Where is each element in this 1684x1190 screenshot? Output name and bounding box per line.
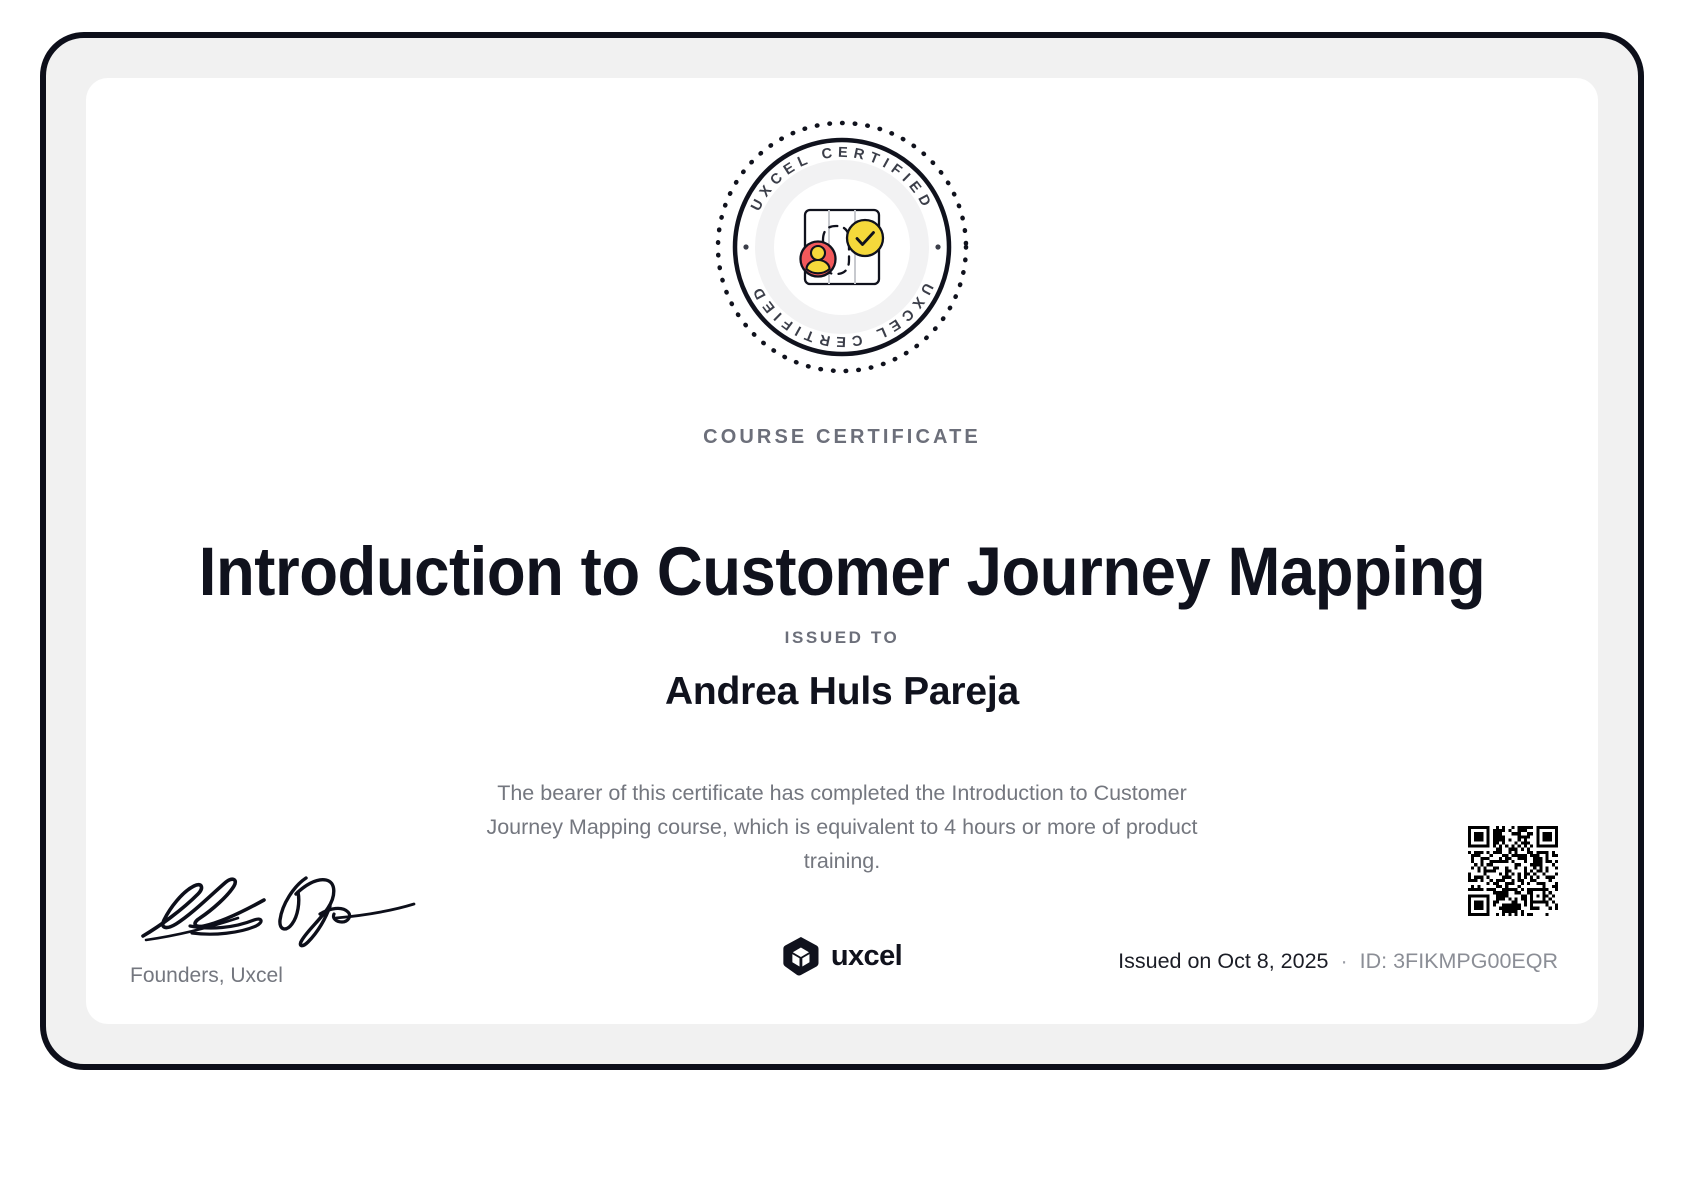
uxcel-certified-badge: UXCEL CERTIFIED UXCEL CERTIFIED: [713, 118, 971, 376]
issued-on-date: Issued on Oct 8, 2025: [1118, 949, 1328, 973]
certificate-description: The bearer of this certificate has compl…: [472, 776, 1212, 878]
certificate-frame: UXCEL CERTIFIED UXCEL CERTIFIED: [40, 32, 1644, 1070]
founders-signature-icon: [130, 870, 430, 952]
certificate-card: UXCEL CERTIFIED UXCEL CERTIFIED: [86, 78, 1598, 1024]
brand-wordmark: uxcel: [831, 942, 902, 971]
signature-block: Founders, Uxcel: [126, 870, 456, 988]
uxcel-brand-logo: uxcel: [782, 936, 902, 976]
certificate-id: ID: 3FIKMPG00EQR: [1360, 949, 1558, 973]
certificate-meta: Issued on Oct 8, 2025 · ID: 3FIKMPG00EQR: [1118, 949, 1558, 974]
badge-seal-icon: UXCEL CERTIFIED UXCEL CERTIFIED: [713, 118, 971, 376]
journey-map-icon: [801, 210, 884, 284]
issued-to-label: ISSUED TO: [86, 628, 1598, 648]
recipient-name: Andrea Huls Pareja: [86, 670, 1598, 714]
signature-caption: Founders, Uxcel: [130, 964, 456, 988]
qr-canvas[interactable]: [1468, 826, 1558, 916]
page-title: Introduction to Customer Journey Mapping: [146, 536, 1537, 608]
uxcel-hexagon-icon: [782, 936, 820, 976]
course-certificate-kicker: COURSE CERTIFICATE: [86, 426, 1598, 449]
meta-separator: ·: [1335, 949, 1354, 973]
certificate-qr-code[interactable]: [1468, 826, 1558, 916]
